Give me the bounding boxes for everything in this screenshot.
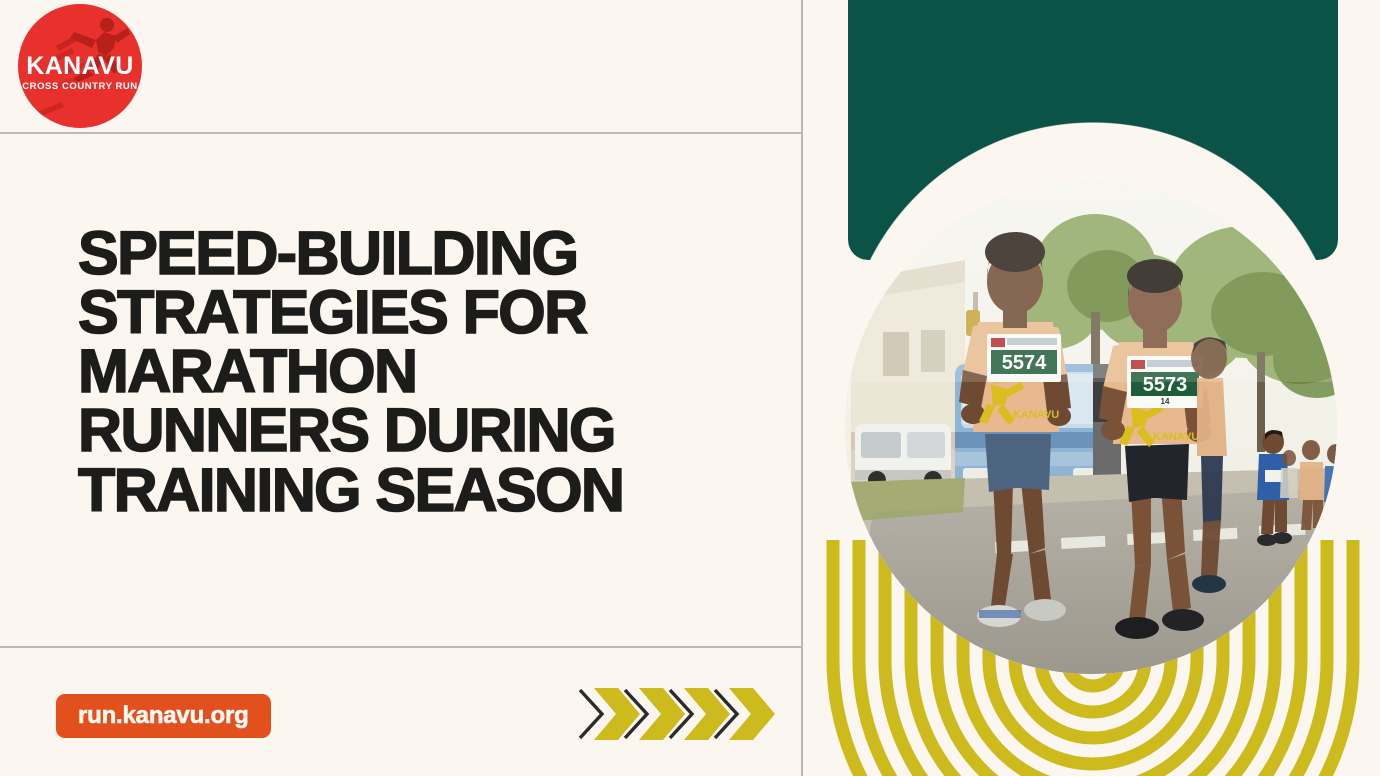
page-title: SPEED-BUILDING STRATEGIES FOR MARATHON R… — [78, 224, 758, 520]
logo-wordmark: KANAVU — [18, 54, 142, 79]
svg-text:KANAVU: KANAVU — [1153, 431, 1199, 443]
divider-bottom — [0, 646, 803, 648]
website-url-badge[interactable]: run.kanavu.org — [56, 694, 271, 738]
headline-line-3: MARATHON — [78, 342, 758, 401]
headline-line-4: RUNNERS DURING — [78, 401, 758, 460]
headline-line-1: SPEED-BUILDING — [78, 224, 758, 283]
right-visual-panel: KANAVU 5574 — [803, 0, 1380, 776]
left-content-panel: KANAVU CROSS COUNTRY RUN SPEED-BUILDING … — [0, 0, 803, 776]
svg-text:14: 14 — [1161, 397, 1170, 406]
chevron-arrows-icon — [576, 676, 772, 752]
divider-top — [0, 132, 803, 134]
logo-tagline: CROSS COUNTRY RUN — [18, 82, 142, 92]
website-url-label: run.kanavu.org — [78, 702, 249, 730]
poster-canvas: KANAVU CROSS COUNTRY RUN SPEED-BUILDING … — [0, 0, 1380, 776]
kanavu-logo[interactable]: KANAVU CROSS COUNTRY RUN — [18, 4, 142, 128]
svg-text:KANAVU: KANAVU — [1013, 409, 1059, 421]
marathon-runners-photo: KANAVU 5574 — [845, 182, 1337, 674]
headline-line-5: TRAINING SEASON — [78, 461, 758, 520]
headline-line-2: STRATEGIES FOR — [78, 283, 758, 342]
